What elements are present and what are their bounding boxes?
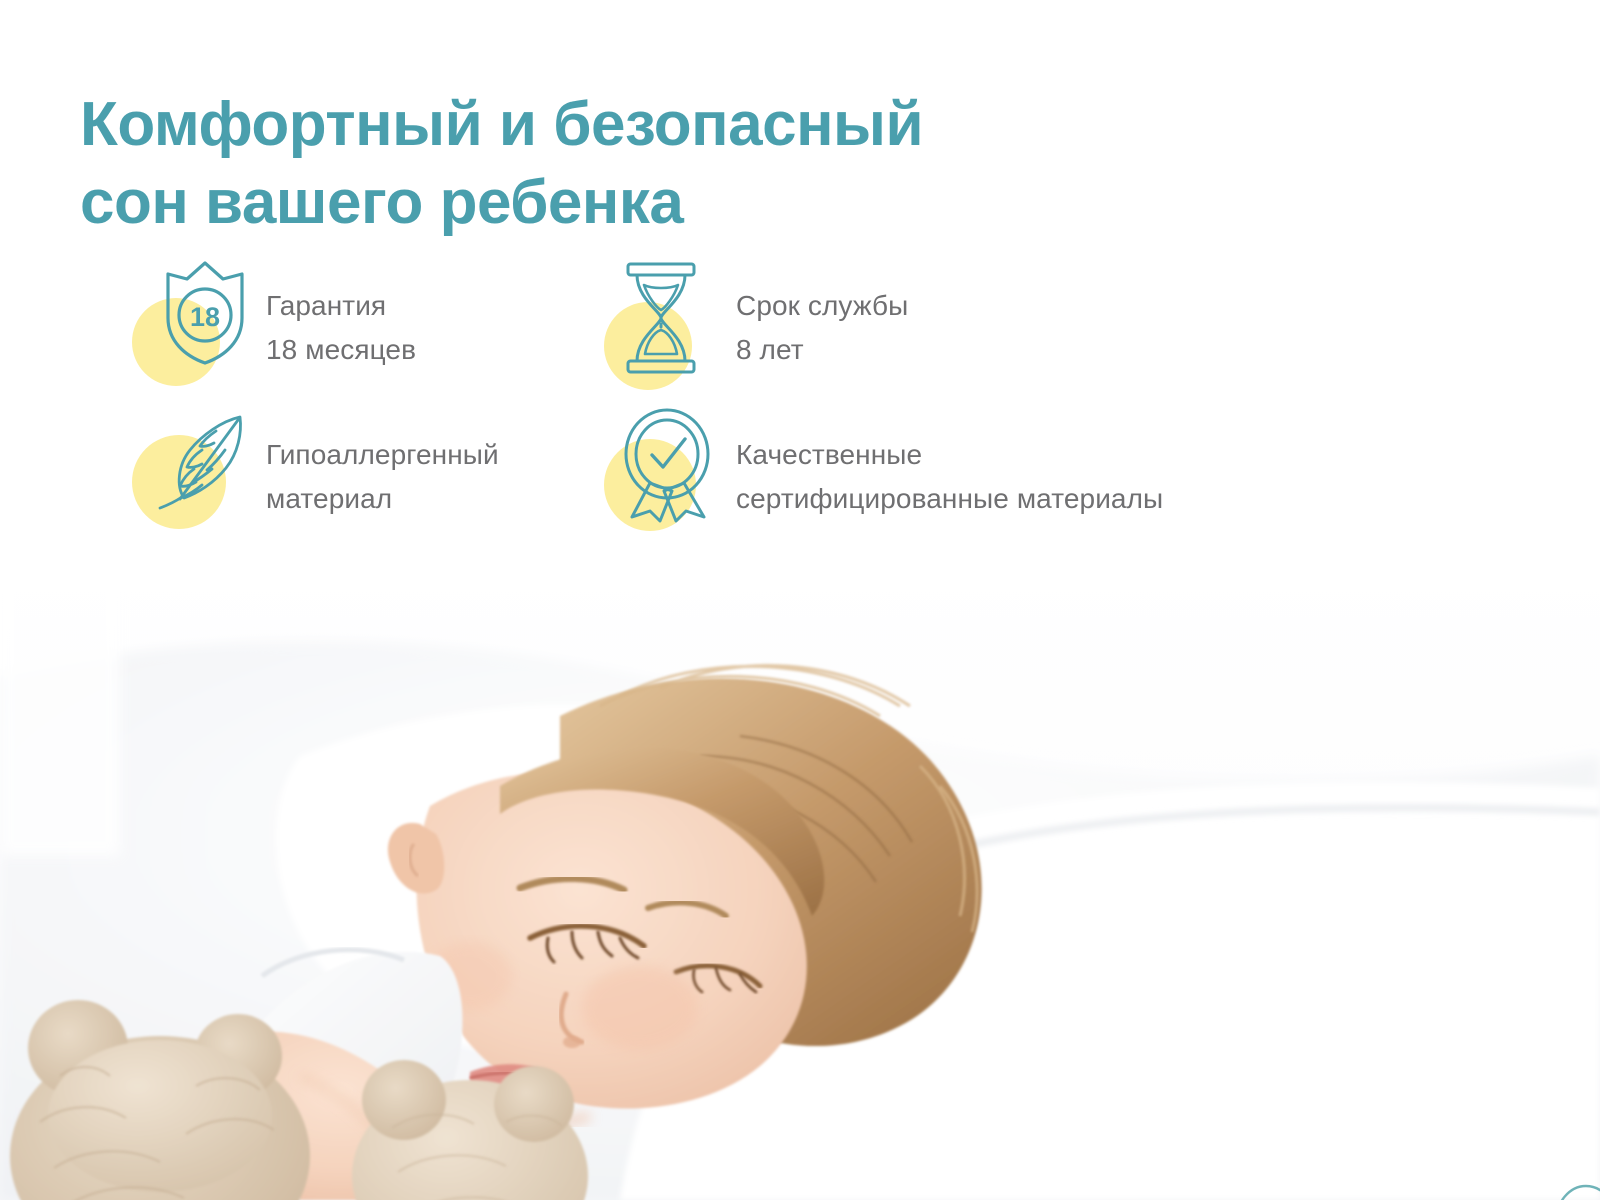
feature-list: 18 Гарантия 18 месяцев: [132, 258, 1432, 532]
feature-item-certified: Качественные сертифицированные материалы: [602, 407, 1362, 532]
shield-18-icon: 18: [162, 258, 248, 373]
promo-page: Комфортный и безопасный сон вашего ребен…: [0, 0, 1600, 1200]
feature-label: Качественные сертифицированные материалы: [736, 407, 1163, 521]
photo-illustration: [0, 556, 1600, 1200]
feature-row: Гипоаллергенный материал: [132, 407, 1432, 532]
feature-label: Гипоаллергенный материал: [266, 407, 499, 521]
hourglass-icon: [620, 260, 702, 381]
feature-icon-wrap: [602, 258, 720, 383]
award-check-icon: [620, 407, 716, 528]
feature-icon-wrap: [132, 407, 250, 532]
svg-text:18: 18: [190, 302, 220, 332]
feature-label: Срок службы 8 лет: [736, 258, 908, 372]
feature-item-lifetime: Срок службы 8 лет: [602, 258, 1362, 383]
feature-item-warranty: 18 Гарантия 18 месяцев: [132, 258, 602, 383]
feature-icon-wrap: [602, 407, 720, 532]
feather-icon: [154, 407, 252, 518]
feature-row: 18 Гарантия 18 месяцев: [132, 258, 1432, 383]
feature-label: Гарантия 18 месяцев: [266, 258, 416, 372]
feature-icon-wrap: 18: [132, 258, 250, 383]
feature-item-hypoallergenic: Гипоаллергенный материал: [132, 407, 602, 532]
hero-photo: [0, 556, 1600, 1200]
page-title: Комфортный и безопасный сон вашего ребен…: [80, 86, 1180, 242]
